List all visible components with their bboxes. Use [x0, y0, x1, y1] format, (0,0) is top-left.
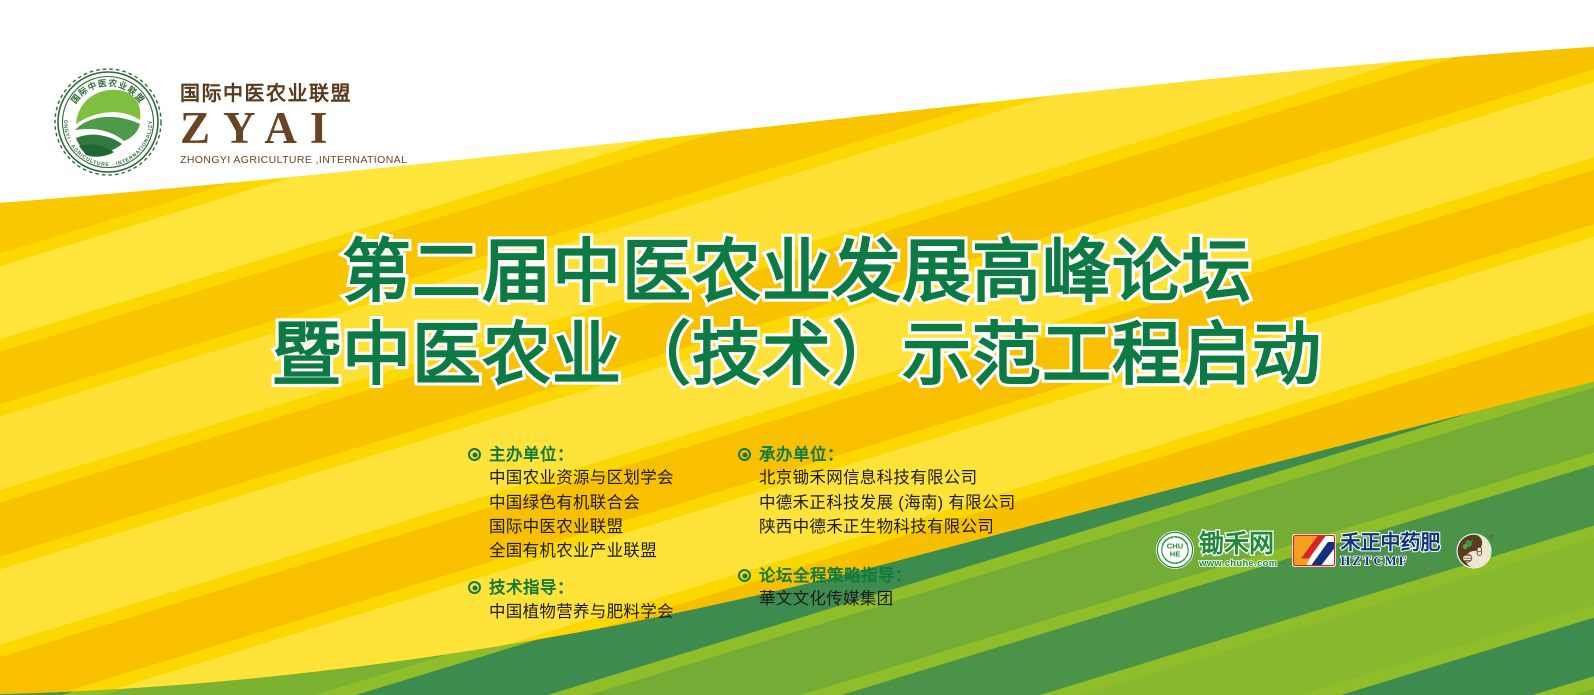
registered-mark: ®: [1489, 534, 1493, 541]
organizer-column-left: 主办单位： 中国农业资源与区划学会 中国绿色有机联合会 国际中医农业联盟 全国有…: [468, 444, 738, 638]
zyai-seal-icon: 国际中医农业联盟 ZHONGYI · AGRICULTURE · INTERNA…: [52, 66, 164, 178]
organizer-heading: 主办单位：: [468, 444, 738, 466]
chuhe-name: 锄禾网: [1199, 532, 1278, 557]
poster-canvas: 国际中医农业联盟 ZHONGYI · AGRICULTURE · INTERNA…: [0, 0, 1594, 695]
logo-wordmark: 国际中医农业联盟 ZYAI ZHONGYI AGRICULTURE ,INTER…: [180, 79, 407, 166]
tech-advisor-list: 中国植物营养与肥料学会: [468, 600, 738, 624]
list-item: 陕西中德禾正生物科技有限公司: [759, 515, 1068, 539]
poster-title: 第二届中医农业发展高峰论坛 暨中医农业（技术）示范工程启动: [0, 232, 1594, 395]
chuhe-url: www.chuhe.com: [1199, 558, 1278, 569]
svg-text:HE: HE: [1170, 550, 1181, 559]
co-organizer-heading-label: 承办单位：: [759, 444, 844, 466]
logo-chinese-name: 国际中医农业联盟: [180, 83, 407, 105]
sponsor-hezheng: 禾正中药肥 HZTCMF: [1292, 533, 1441, 568]
organization-logo: 国际中医农业联盟 ZHONGYI · AGRICULTURE · INTERNA…: [52, 66, 407, 178]
strategy-advisor-list: 華文文化传媒集团: [738, 587, 1068, 611]
sponsor-logos: CHU HE CHUHE NONGZI SHANG CHENG 锄禾网 www.…: [1155, 530, 1495, 570]
list-item: 中国植物营养与肥料学会: [489, 600, 738, 624]
logo-abbreviation: ZYAI: [180, 106, 407, 151]
list-item: 中德禾正科技发展 (海南) 有限公司: [759, 491, 1068, 515]
strategy-advisor-group: 论坛全程策略指导： 華文文化传媒集团: [738, 565, 1068, 612]
list-item: 華文文化传媒集团: [759, 587, 1068, 611]
chuhe-wordmark: 锄禾网 www.chuhe.com: [1199, 532, 1278, 569]
hezheng-z-icon: [1292, 534, 1336, 567]
sponsor-seed-brand: ®: [1455, 530, 1495, 570]
seed-sprout-circle-icon: ®: [1455, 530, 1495, 570]
strategy-advisor-heading: 论坛全程策略指导：: [738, 565, 1068, 587]
organizer-heading-label: 主办单位：: [489, 444, 574, 466]
title-line-2: 暨中医农业（技术）示范工程启动: [0, 315, 1594, 394]
list-item: 北京锄禾网信息科技有限公司: [759, 466, 1068, 490]
title-line-1: 第二届中医农业发展高峰论坛: [0, 232, 1594, 311]
organizer-column-right: 承办单位： 北京锄禾网信息科技有限公司 中德禾正科技发展 (海南) 有限公司 陕…: [738, 444, 1068, 638]
organizer-group: 主办单位： 中国农业资源与区划学会 中国绿色有机联合会 国际中医农业联盟 全国有…: [468, 444, 738, 563]
bullet-icon: [468, 448, 481, 461]
list-item: 国际中医农业联盟: [489, 515, 738, 539]
list-item: 中国绿色有机联合会: [489, 491, 738, 515]
bullet-icon: [468, 581, 481, 594]
organizer-info: 主办单位： 中国农业资源与区划学会 中国绿色有机联合会 国际中医农业联盟 全国有…: [468, 444, 1068, 638]
sponsor-chuhe: CHU HE CHUHE NONGZI SHANG CHENG 锄禾网 www.…: [1155, 530, 1278, 570]
list-item: 全国有机农业产业联盟: [489, 539, 738, 563]
tech-advisor-group: 技术指导： 中国植物营养与肥料学会: [468, 577, 738, 624]
tech-advisor-heading-label: 技术指导：: [489, 577, 574, 599]
organizer-list: 中国农业资源与区划学会 中国绿色有机联合会 国际中医农业联盟 全国有机农业产业联…: [468, 466, 738, 563]
bullet-icon: [738, 569, 751, 582]
list-item: 中国农业资源与区划学会: [489, 466, 738, 490]
bullet-icon: [738, 448, 751, 461]
logo-english-name: ZHONGYI AGRICULTURE ,INTERNATIONAL: [180, 154, 407, 166]
strategy-advisor-heading-label: 论坛全程策略指导：: [759, 565, 912, 587]
hezheng-wordmark: 禾正中药肥 HZTCMF: [1341, 533, 1441, 568]
chuhe-circle-icon: CHU HE CHUHE NONGZI SHANG CHENG: [1155, 530, 1195, 570]
tech-advisor-heading: 技术指导：: [468, 577, 738, 599]
co-organizer-list: 北京锄禾网信息科技有限公司 中德禾正科技发展 (海南) 有限公司 陕西中德禾正生…: [738, 466, 1068, 539]
hezheng-name-en: HZTCMF: [1341, 555, 1441, 568]
co-organizer-heading: 承办单位：: [738, 444, 1068, 466]
co-organizer-group: 承办单位： 北京锄禾网信息科技有限公司 中德禾正科技发展 (海南) 有限公司 陕…: [738, 444, 1068, 539]
hezheng-name: 禾正中药肥: [1341, 533, 1441, 553]
